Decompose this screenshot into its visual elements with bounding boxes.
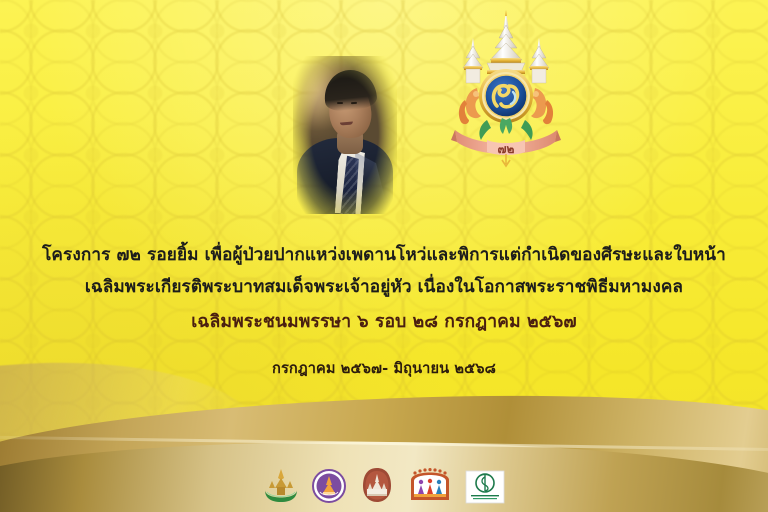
emblem-banner-numeral: ๗๒ bbox=[498, 142, 515, 156]
purple-circle-institute-logo bbox=[311, 466, 347, 504]
ministry-of-public-health-logo bbox=[465, 470, 505, 504]
royal-cypher-emblem: ๗๒ bbox=[447, 8, 565, 170]
commemorative-poster: ๗๒ โครงการ ๗๒ รอยยิ้ม เพื่อผู้ป่วยปากแหว… bbox=[0, 0, 768, 512]
emblem-side-spire-right bbox=[529, 38, 549, 83]
emblem-side-spire-left bbox=[463, 38, 483, 83]
headline-line-2: เฉลิมพระเกียรติพระบาทสมเด็จพระเจ้าอยู่หั… bbox=[0, 270, 768, 304]
emblem-foliage bbox=[479, 118, 532, 140]
emblem-supporter-left bbox=[459, 88, 481, 124]
family-house-foundation-logo bbox=[407, 466, 453, 504]
royal-portrait-photograph bbox=[293, 56, 397, 214]
headline-text-block: โครงการ ๗๒ รอยยิ้ม เพื่อผู้ป่วยปากแหว่งเ… bbox=[0, 240, 768, 384]
emblem-supporter-right bbox=[531, 88, 553, 124]
emblem-ribbon-banner: ๗๒ bbox=[451, 130, 561, 156]
emblem-medallion bbox=[479, 69, 533, 123]
headline-line-1: โครงการ ๗๒ รอยยิ้ม เพื่อผู้ป่วยปากแหว่งเ… bbox=[0, 240, 768, 270]
partner-logo-row bbox=[0, 466, 768, 504]
emblem-central-spire bbox=[487, 10, 525, 74]
headline-line-3: เฉลิมพระชนมพรรษา ๖ รอบ ๒๘ กรกฎาคม ๒๕๖๗ bbox=[0, 304, 768, 340]
portrait-image bbox=[293, 56, 397, 214]
pagoda-shield-logo bbox=[359, 466, 395, 504]
royal-cypher-emblem-graphic: ๗๒ bbox=[447, 8, 565, 170]
mahidol-foundation-logo bbox=[263, 466, 299, 504]
